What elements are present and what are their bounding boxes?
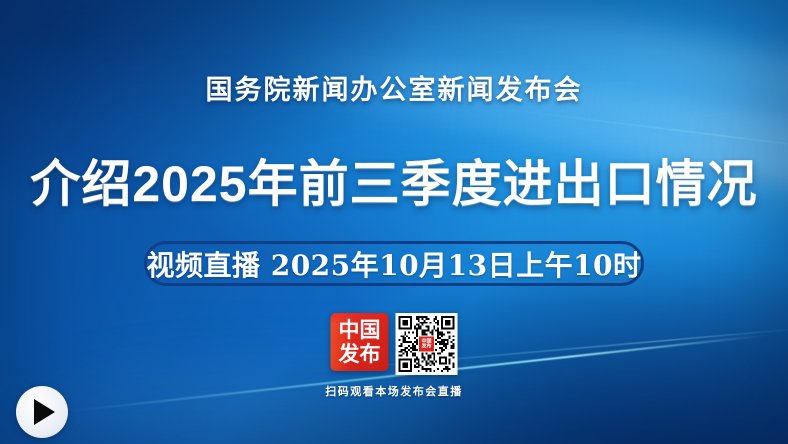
brand-and-qr-row: 中国 发布 中国 发布	[331, 313, 458, 375]
play-icon	[34, 399, 55, 425]
play-button[interactable]	[16, 386, 68, 438]
headline-title: 介绍2025年前三季度进出口情况	[0, 158, 788, 211]
qr-center-line-2: 发布	[421, 344, 431, 349]
qr-code[interactable]: 中国 发布	[396, 313, 458, 375]
logo-text-line-1: 中国	[339, 318, 381, 342]
live-stream-poster: 国务院新闻办公室新闻发布会 介绍2025年前三季度进出口情况 视频直播 2025…	[0, 0, 788, 444]
poster-content: 国务院新闻办公室新闻发布会 介绍2025年前三季度进出口情况 视频直播 2025…	[0, 0, 788, 444]
qr-center-logo: 中国 发布	[418, 336, 435, 353]
live-badge: 视频直播 2025年10月13日上午10时	[144, 241, 644, 286]
live-badge-text: 视频直播 2025年10月13日上午10时	[146, 244, 641, 284]
scan-caption: 扫码观看本场发布会直播	[0, 383, 788, 399]
china-release-logo: 中国 发布	[331, 313, 389, 371]
organization-title: 国务院新闻办公室新闻发布会	[0, 68, 788, 107]
logo-text-line-2: 发布	[339, 342, 381, 366]
